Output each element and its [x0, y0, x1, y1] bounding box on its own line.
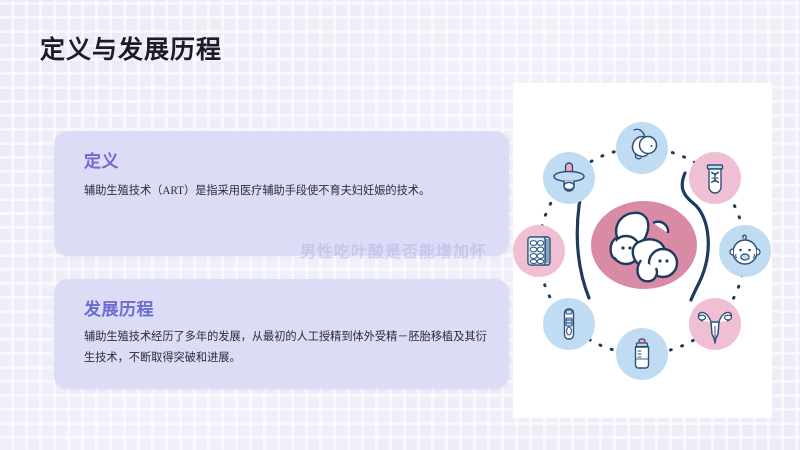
icon-node-dna-test-tube[interactable] [689, 152, 741, 204]
card-definition-heading: 定义 [84, 147, 119, 172]
card-history: 发展历程 辅助生殖技术经历了多年的发展，从最初的人工授精到体外受精－胚胎移植及其… [54, 279, 509, 389]
assisted-reproduction-infographic [513, 83, 772, 418]
card-definition-body: 辅助生殖技术（ART）是指采用医疗辅助手段使不育夫妇妊娠的技术。 [84, 181, 487, 202]
icon-node-pacifier[interactable] [543, 152, 595, 204]
icon-node-baby-face[interactable] [719, 225, 771, 277]
page-title: 定义与发展历程 [40, 30, 222, 66]
icon-node-uterus[interactable] [689, 298, 741, 350]
card-history-heading: 发展历程 [84, 295, 154, 320]
icon-node-pregnancy-test[interactable] [543, 298, 595, 350]
illustration-panel [513, 83, 772, 418]
slide-canvas: 定义与发展历程 定义 辅助生殖技术（ART）是指采用医疗辅助手段使不育夫妇妊娠的… [0, 0, 800, 450]
icon-node-pill-blister[interactable] [513, 225, 565, 277]
card-definition: 定义 辅助生殖技术（ART）是指采用医疗辅助手段使不育夫妇妊娠的技术。 [54, 131, 509, 256]
icon-node-fetus[interactable] [616, 122, 668, 174]
pregnant-belly-with-twins [577, 173, 708, 300]
icon-node-baby-bottle[interactable] [616, 328, 668, 380]
card-history-body: 辅助生殖技术经历了多年的发展，从最初的人工授精到体外受精－胚胎移植及其衍生技术，… [84, 327, 487, 368]
